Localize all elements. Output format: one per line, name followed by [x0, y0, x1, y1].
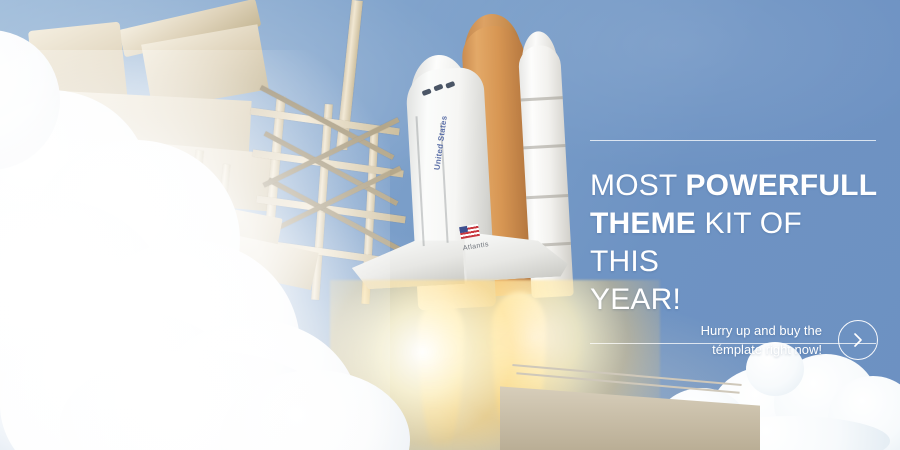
chevron-right-icon [851, 332, 865, 348]
headline-theme: THEME [590, 207, 696, 240]
cta-line-1: Hurry up and buy the [701, 323, 822, 338]
headline-year: YEAR! [590, 283, 681, 316]
headline-most: MOST [590, 169, 685, 202]
plume-veil [0, 50, 390, 450]
cta-block: Hurry up and buy the témplate right now! [590, 320, 878, 360]
headline-powerfull: POWERFULL [685, 169, 877, 202]
hero-banner: United States Atlantis MOST POWERFULL TH… [0, 0, 900, 450]
cta-next-button[interactable] [838, 320, 878, 360]
divider-top [590, 140, 876, 141]
cta-text: Hurry up and buy the témplate right now! [701, 321, 822, 359]
page-title: MOST POWERFULL THEME KIT OF THIS YEAR! [590, 167, 878, 319]
cta-line-2: témplate right now! [712, 342, 822, 357]
hero-copy: MOST POWERFULL THEME KIT OF THIS YEAR! [590, 140, 878, 344]
